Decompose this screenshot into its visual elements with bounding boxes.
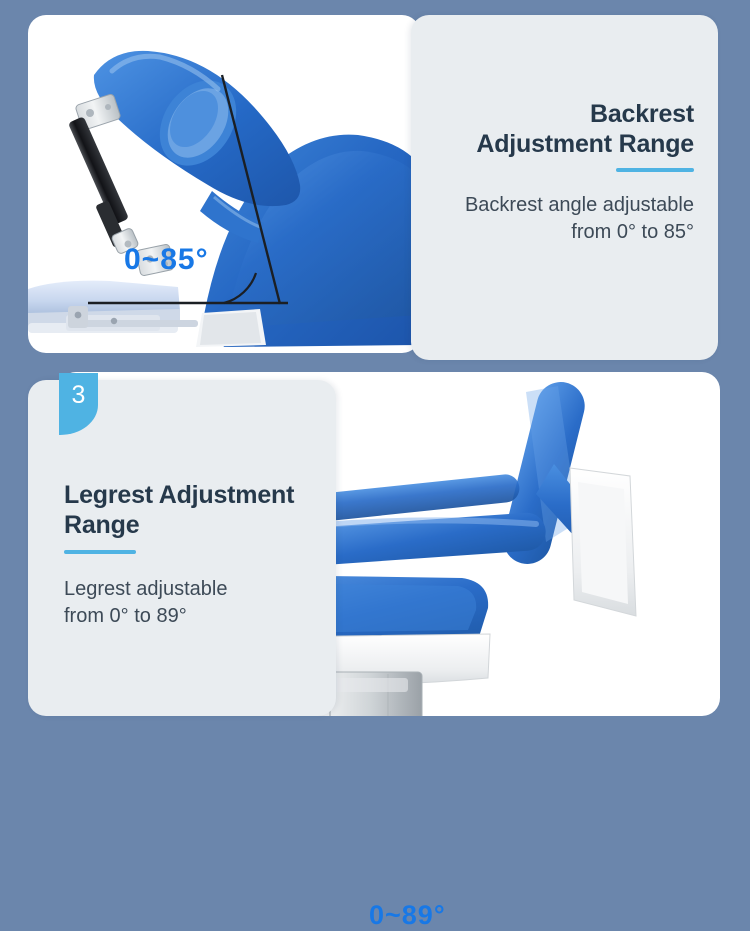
lower-cushion [28,281,198,333]
legrest-text-block: Legrest Adjustment Range Legrest adjusta… [64,480,314,630]
backrest-body: Backrest angle adjustable from 0° to 85° [432,192,694,246]
backrest-text-panel: 2 Backrest Adjustment Range Backrest ang… [411,15,718,360]
backrest-title-underline [616,168,694,172]
legrest-text-panel: 3 Legrest Adjustment Range Legrest adjus… [28,380,336,716]
backrest-angle-label: 0~85° [124,243,209,277]
legrest-title-line1: Legrest Adjustment Range [64,480,314,540]
feature-card-backrest: 2 Backrest Adjustment Range Backrest ang… [28,15,718,360]
legrest-angle-label: 0~89° [369,900,446,931]
legrest-title: Legrest Adjustment Range [64,480,314,540]
backrest-title-line1: Backrest [432,99,694,129]
feature-card-legrest: 3 Legrest Adjustment Range Legrest adjus… [28,372,720,716]
back-shell [570,468,636,616]
backrest-title: Backrest Adjustment Range [432,99,694,159]
headrest-cushion [94,51,300,206]
backrest-title-line2: Adjustment Range [432,129,694,159]
backrest-chair-illustration [28,15,420,353]
legrest-body-line2: from 0° to 89° [64,603,314,630]
backrest-body-line1: Backrest angle adjustable [432,192,694,219]
step-badge-3: 3 [59,373,98,435]
backrest-text-block: Backrest Adjustment Range Backrest angle… [432,99,694,246]
backrest-body-line2: from 0° to 85° [432,219,694,246]
backrest-photo-panel [28,15,420,353]
legrest-body-line1: Legrest adjustable [64,576,314,603]
gas-strut [68,116,139,254]
legrest-title-underline [64,550,136,554]
base-support [196,309,266,347]
page-root: 2 Backrest Adjustment Range Backrest ang… [0,0,750,731]
legrest-body: Legrest adjustable from 0° to 89° [64,576,314,630]
